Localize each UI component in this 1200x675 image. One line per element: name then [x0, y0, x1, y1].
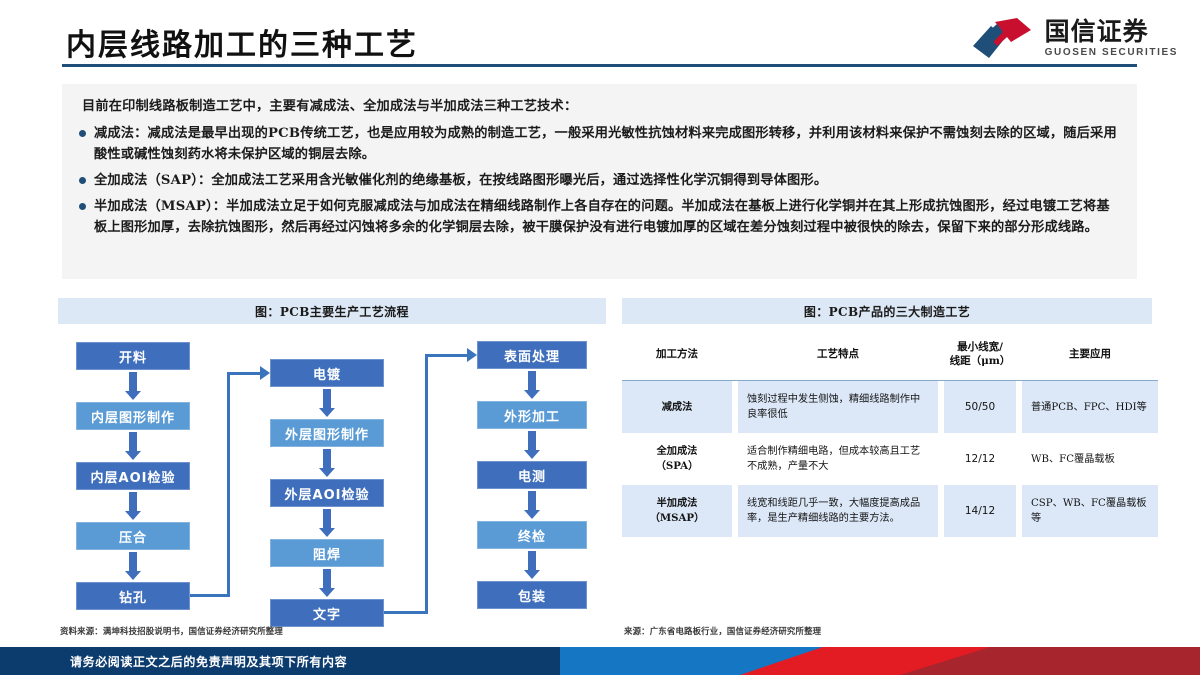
flow-connector-legend-to-surface — [425, 354, 469, 357]
col-header-application: 主要应用 — [1022, 328, 1158, 381]
intro-lead: 目前在印制线路板制造工艺中，主要有减成法、全加成法与半加成法三种工艺技术： — [76, 96, 1121, 117]
flow-connector-arrowhead — [260, 366, 270, 380]
table-row[interactable]: 减成法 蚀刻过程中发生侧蚀，精细线路制作中良率很低 50/50 普通PCB、FP… — [622, 381, 1158, 434]
process-table-panel: 图：PCB产品的三大制造工艺 加工方法 工艺特点 最小线宽/ 线距（μm — [622, 298, 1152, 643]
process-comparison-table: 加工方法 工艺特点 最小线宽/ 线距（μm） 主要应用 减成法 — [622, 328, 1152, 537]
flow-node-plating[interactable]: 电镀 — [270, 359, 384, 387]
cell-spec: 12/12 — [944, 433, 1016, 485]
cell-method-abbr: （SPA） — [656, 460, 699, 472]
flow-node-solder-mask[interactable]: 阻焊 — [270, 539, 384, 567]
col-header-spec-line1: 最小线宽/ — [957, 341, 1003, 353]
flow-arrow-down — [319, 569, 335, 597]
flow-node-electrical-test[interactable]: 电测 — [477, 461, 587, 489]
cell-method-name: 全加成法 — [657, 445, 698, 457]
logo-text-en: GUOSEN SECURITIES — [1045, 48, 1178, 58]
intro-bullet-text: 减成法：减成法是最早出现的PCB传统工艺，也是应用较为成熟的制造工艺，一般采用光… — [94, 126, 1117, 162]
slide-header: 内层线路加工的三种工艺 国信证券 GUOSEN SECURITIES — [0, 0, 1200, 78]
col-header-spec-line2: 线距（μm） — [950, 355, 1011, 367]
flow-connector-legend-to-surface — [425, 354, 428, 614]
cell-spec: 14/12 — [944, 485, 1016, 537]
guosen-logo-icon — [971, 16, 1035, 60]
flow-arrow-down — [125, 492, 141, 520]
cell-method: 半加成法 （MSAP） — [622, 485, 732, 537]
cell-application: 普通PCB、FPC、HDI等 — [1022, 381, 1158, 434]
cell-spec: 50/50 — [944, 381, 1016, 434]
flow-arrow-down — [125, 552, 141, 580]
table-row[interactable]: 全加成法 （SPA） 适合制作精细电路，但成本较高且工艺不成熟，产量不大 12/… — [622, 433, 1158, 485]
flow-node-packaging[interactable]: 包装 — [477, 581, 587, 609]
bullet-dot-icon — [79, 177, 86, 184]
flow-node-inner-aoi[interactable]: 内层AOI检验 — [76, 462, 190, 490]
logo-text-cn: 国信证券 — [1045, 19, 1178, 44]
flow-arrow-down — [125, 372, 141, 400]
flow-node-outer-pattern[interactable]: 外层图形制作 — [270, 419, 384, 447]
flow-node-legend-print[interactable]: 文字 — [270, 599, 384, 627]
flow-node-drilling[interactable]: 钻孔 — [76, 582, 190, 610]
col-header-feature: 工艺特点 — [738, 328, 938, 381]
flow-node-kailiao[interactable]: 开料 — [76, 342, 190, 370]
cell-method-abbr: （MSAP） — [650, 512, 705, 524]
table-source-note: 来源：广东省电路板行业，国信证券经济研究所整理 — [624, 625, 821, 637]
flow-arrow-down — [524, 371, 540, 399]
flow-node-surface-finish[interactable]: 表面处理 — [477, 341, 587, 369]
intro-bullet-msap: 半加成法（MSAP）：半加成法立足于如何克服减成法与加成法在精细线路制作上各自存… — [76, 196, 1121, 238]
flow-arrow-down — [524, 551, 540, 579]
flow-arrow-down — [524, 431, 540, 459]
flowchart-title: 图：PCB主要生产工艺流程 — [58, 298, 606, 324]
flow-connector-drill-to-plating — [190, 594, 230, 597]
flow-arrow-down — [524, 491, 540, 519]
bullet-dot-icon — [79, 130, 86, 137]
flow-arrow-down — [319, 389, 335, 417]
cell-feature: 适合制作精细电路，但成本较高且工艺不成熟，产量不大 — [738, 433, 938, 485]
brand-logo: 国信证券 GUOSEN SECURITIES — [971, 16, 1178, 60]
col-header-method: 加工方法 — [622, 328, 732, 381]
flowchart-source-note: 资料来源：满坤科技招股说明书，国信证券经济研究所整理 — [60, 625, 283, 637]
flowchart-panel: 图：PCB主要生产工艺流程 开料 内层图形制作 内层AOI检验 压合 钻孔 — [58, 298, 606, 643]
flow-connector-drill-to-plating — [227, 372, 230, 597]
flow-node-final-inspect[interactable]: 终检 — [477, 521, 587, 549]
flow-node-outer-aoi[interactable]: 外层AOI检验 — [270, 479, 384, 507]
col-header-spec: 最小线宽/ 线距（μm） — [944, 328, 1016, 381]
cell-application: CSP、WB、FC覆晶载板等 — [1022, 485, 1158, 537]
pcb-process-flowchart: 开料 内层图形制作 内层AOI检验 压合 钻孔 电镀 — [58, 328, 606, 628]
table-title: 图：PCB产品的三大制造工艺 — [622, 298, 1152, 324]
flow-node-profiling[interactable]: 外形加工 — [477, 401, 587, 429]
flow-connector-arrowhead — [467, 348, 477, 362]
footer-disclaimer: 请务必阅读正文之后的免责声明及其项下所有内容 — [70, 647, 347, 675]
flow-node-lamination[interactable]: 压合 — [76, 522, 190, 550]
slide-root: 内层线路加工的三种工艺 国信证券 GUOSEN SECURITIES 目前在印制… — [0, 0, 1200, 675]
intro-bullet-text: 半加成法（MSAP）：半加成法立足于如何克服减成法与加成法在精细线路制作上各自存… — [94, 199, 1110, 235]
intro-bullet-text: 全加成法（SAP）：全加成法工艺采用含光敏催化剂的绝缘基板，在按线路图形曝光后，… — [94, 173, 827, 188]
slide-footer: 请务必阅读正文之后的免责声明及其项下所有内容 — [0, 647, 1200, 675]
flow-arrow-down — [125, 432, 141, 460]
bullet-dot-icon — [79, 203, 86, 210]
title-underline — [62, 64, 1137, 67]
intro-text-block: 目前在印制线路板制造工艺中，主要有减成法、全加成法与半加成法三种工艺技术： 减成… — [62, 84, 1137, 279]
table-header-row: 加工方法 工艺特点 最小线宽/ 线距（μm） 主要应用 — [622, 328, 1158, 381]
intro-bullet-sap: 全加成法（SAP）：全加成法工艺采用含光敏催化剂的绝缘基板，在按线路图形曝光后，… — [76, 170, 1121, 191]
page-title: 内层线路加工的三种工艺 — [66, 20, 418, 64]
flow-arrow-down — [319, 509, 335, 537]
cell-feature: 线宽和线距几乎一致，大幅度提高成品率，是生产精细线路的主要方法。 — [738, 485, 938, 537]
intro-bullet-subtractive: 减成法：减成法是最早出现的PCB传统工艺，也是应用较为成熟的制造工艺，一般采用光… — [76, 123, 1121, 165]
flow-arrow-down — [319, 449, 335, 477]
flow-node-inner-pattern[interactable]: 内层图形制作 — [76, 402, 190, 430]
cell-feature: 蚀刻过程中发生侧蚀，精细线路制作中良率很低 — [738, 381, 938, 434]
flow-connector-drill-to-plating — [227, 372, 262, 375]
cell-method: 全加成法 （SPA） — [622, 433, 732, 485]
cell-application: WB、FC覆晶载板 — [1022, 433, 1158, 485]
cell-method-name: 半加成法 — [657, 497, 698, 509]
flow-connector-legend-to-surface — [384, 611, 428, 614]
table-row[interactable]: 半加成法 （MSAP） 线宽和线距几乎一致，大幅度提高成品率，是生产精细线路的主… — [622, 485, 1158, 537]
cell-method: 减成法 — [622, 381, 732, 434]
